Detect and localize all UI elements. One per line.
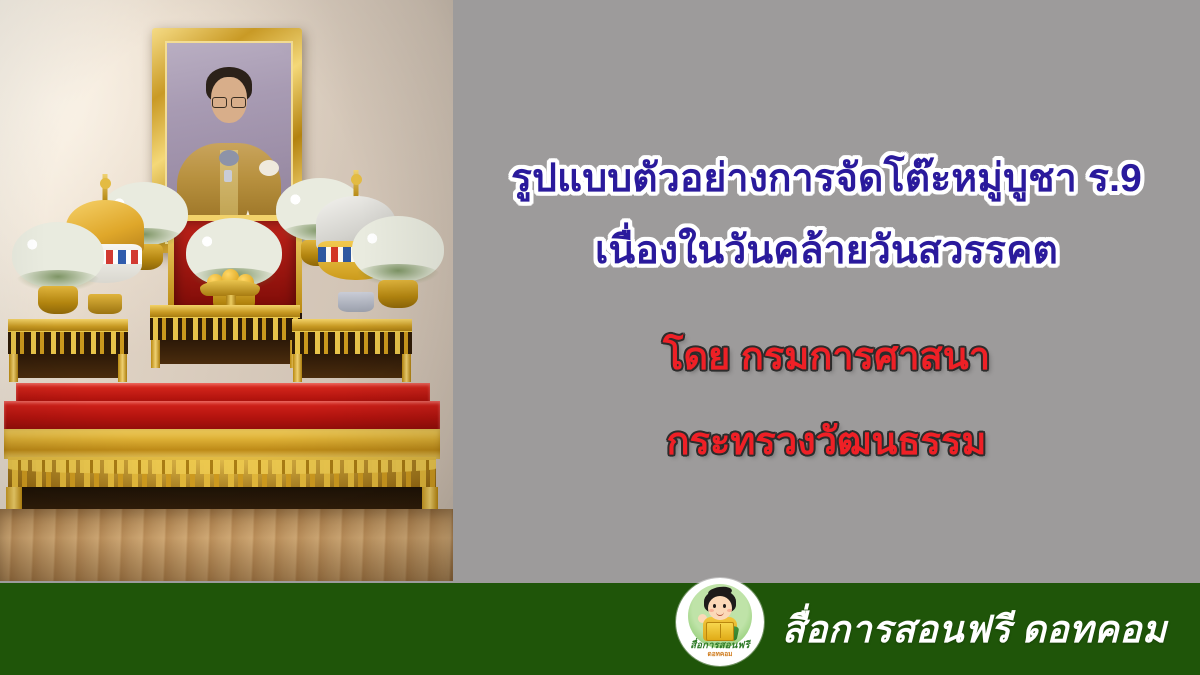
flower-vase <box>378 280 418 308</box>
logo-character-cheek-left <box>709 609 714 612</box>
text-panel: รูปแบบตัวอย่างการจัดโต๊ะหมู่บูชา ร.9 เนื… <box>453 0 1200 583</box>
flower-bouquet <box>12 222 104 314</box>
logo-character-cheek-right <box>727 609 732 612</box>
vessel-finial <box>103 174 108 202</box>
pedestal-apron <box>150 316 300 340</box>
title-line-1: รูปแบบตัวอย่างการจัดโต๊ะหมู่บูชา ร.9 <box>453 147 1200 209</box>
footer-bar: สื่อการสอนฟรี ดอทคอม สื่อการสอนฟรี ดอทคอ… <box>0 583 1200 675</box>
footer-brand-text: สื่อการสอนฟรี ดอทคอม <box>782 600 1167 659</box>
altar-pedestal-table <box>8 319 128 383</box>
pedestal-top <box>292 319 412 331</box>
credit-line-2: กระทรวงวัฒนธรรม <box>453 410 1200 471</box>
pedestal-shadow <box>160 338 290 364</box>
wooden-floor <box>0 509 453 581</box>
vessel-finial <box>354 170 359 198</box>
flower-blooms <box>352 216 444 282</box>
portrait-figure-glasses <box>212 97 246 106</box>
altar-pedestal-table <box>150 305 300 369</box>
slide-canvas: รูปแบบตัวอย่างการจัดโต๊ะหมู่บูชา ร.9 เนื… <box>0 0 1200 675</box>
flower-blooms <box>12 222 104 288</box>
footer-brand-group: สื่อการสอนฟรี ดอทคอม สื่อการสอนฟรี ดอทคอ… <box>676 592 1167 666</box>
offering-tray-top <box>200 280 260 296</box>
logo-text-secondary: ดอทคอม <box>676 649 764 659</box>
altar-photo <box>0 0 453 581</box>
portrait-figure-medal <box>224 170 232 182</box>
table-gold-apron <box>4 429 440 459</box>
altar-pedestal-table <box>292 319 412 383</box>
pedestal-top <box>150 305 300 317</box>
logo-character-face <box>708 596 732 620</box>
portrait-figure-epaulette <box>259 160 279 176</box>
brand-logo-icon[interactable]: สื่อการสอนฟรี ดอทคอม <box>676 578 764 666</box>
credit-line-1: โดย กรมการศาสนา <box>453 325 1200 386</box>
pedestal-shadow <box>302 352 402 378</box>
table-red-top <box>4 401 440 431</box>
flower-bouquet <box>352 216 444 308</box>
title-line-2: เนื่องในวันคล้ายวันสวรรคต <box>453 219 1200 281</box>
portrait-figure-collar <box>219 150 239 166</box>
pedestal-shadow <box>18 352 118 378</box>
pedestal-top <box>8 319 128 331</box>
pedestal-apron <box>8 330 128 354</box>
pedestal-apron <box>292 330 412 354</box>
altar-main-table <box>4 401 440 521</box>
flower-vase <box>38 286 78 314</box>
